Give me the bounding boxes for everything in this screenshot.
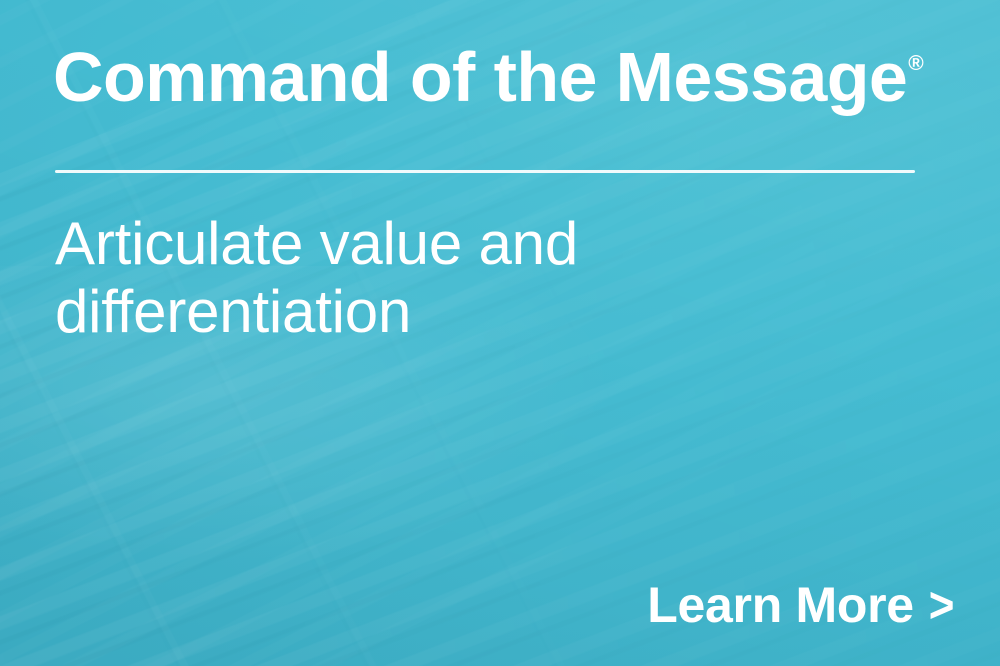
- chevron-right-icon: >: [929, 580, 955, 630]
- banner-headline: Command of the Message®: [53, 38, 923, 116]
- learn-more-link[interactable]: Learn More >: [647, 580, 956, 630]
- headline-text: Command of the Message: [53, 38, 907, 116]
- promotional-banner: Command of the Message® Articulate value…: [0, 0, 1000, 666]
- banner-content: Command of the Message® Articulate value…: [0, 0, 1000, 666]
- banner-subheadline: Articulate value and differentiation: [55, 210, 855, 347]
- headline-divider: [55, 170, 915, 173]
- registered-trademark-icon: ®: [908, 52, 923, 75]
- learn-more-label: Learn More: [647, 580, 914, 630]
